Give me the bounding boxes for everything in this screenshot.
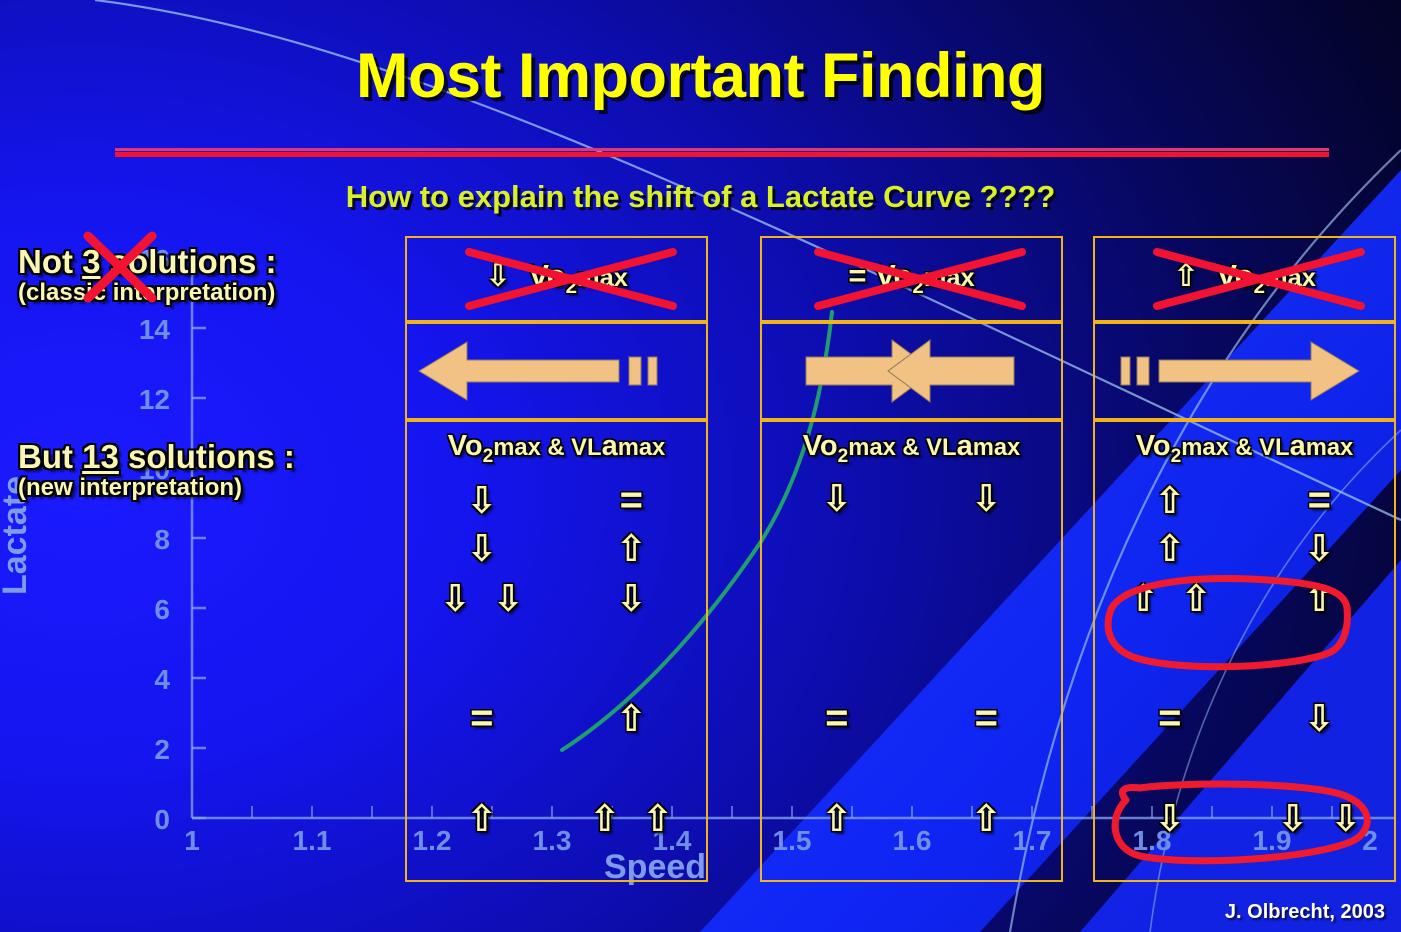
symbol: ⇧ xyxy=(1304,580,1335,617)
symbol: ⇩ xyxy=(1277,800,1308,837)
slide-canvas: Lactate Speed 16 14 12 10 8 6 4 2 0 1 1.… xyxy=(0,0,1401,932)
col1-row5-right: ⇧⇧ xyxy=(557,800,707,837)
col3-row-2: ⇧ ⇩ xyxy=(1095,530,1394,567)
author-credit: J. Olbrecht, 2003 xyxy=(1225,901,1385,924)
col3-row3-right: ⇧ xyxy=(1245,580,1395,617)
divider-line-bottom xyxy=(115,152,1329,157)
col1-row-5: ⇧ ⇧⇧ xyxy=(407,800,706,837)
y-tick-6: 6 xyxy=(110,594,170,626)
col3-row4-right: ⇩ xyxy=(1245,698,1395,738)
symbol: ⇩ xyxy=(971,480,1002,517)
col2-row4-left: = xyxy=(762,698,912,738)
symbol: = xyxy=(1158,698,1181,738)
col3-row-5: ⇩ ⇩⇩ xyxy=(1095,800,1394,837)
col2-row-4: = = xyxy=(762,698,1061,738)
caption-new-post: solutions : xyxy=(119,438,295,475)
col2-sub-vo: Vo xyxy=(803,430,838,462)
col1-row4-left: = xyxy=(407,698,557,738)
col3-sub-a: a xyxy=(1290,430,1306,462)
col2-sub-tail: max & VL xyxy=(848,434,956,461)
col1-row3-right: ⇩ xyxy=(557,580,707,617)
symbol: = xyxy=(825,698,848,738)
col1-row1-left: ⇩ xyxy=(407,480,557,520)
col3-row-1: ⇧ = xyxy=(1095,480,1394,520)
col1-row4-right: ⇧ xyxy=(557,698,707,738)
col2-subhead: Vo2max & VLamax xyxy=(762,430,1061,468)
col3-row1-right: = xyxy=(1245,480,1395,520)
col3-row-3: ⇧⇧ ⇧ xyxy=(1095,580,1394,617)
caption-classic-pre: Not xyxy=(18,243,82,280)
col2-sub-max: max xyxy=(973,434,1021,461)
col1-sub-a: a xyxy=(602,430,618,462)
symbol: ⇧ xyxy=(616,700,647,737)
col2-row-1: ⇩ ⇩ xyxy=(762,480,1061,517)
col1-row-2: ⇩ ⇧ xyxy=(407,530,706,567)
symbol: ⇩ xyxy=(1304,700,1335,737)
left-shift-arrow-icon xyxy=(407,324,706,418)
col3-matrix-box: Vo2max & VLamax ⇧ = ⇧ ⇩ ⇧⇧ ⇧ = ⇩ ⇩ ⇩⇩ xyxy=(1093,420,1396,882)
col1-matrix-box: Vo2max & VLamax ⇩ = ⇩ ⇧ ⇩⇩ ⇩ = ⇧ ⇧ ⇧⇧ xyxy=(405,420,708,882)
col1-row-4: = ⇧ xyxy=(407,698,706,738)
y-tick-14: 14 xyxy=(110,314,170,346)
symbol: ⇩ xyxy=(466,530,497,567)
col3-row2-left: ⇧ xyxy=(1095,530,1245,567)
col3-sub-2: 2 xyxy=(1171,446,1182,467)
right-shift-arrow-icon xyxy=(1095,324,1394,418)
caption-classic: Not 3 solutions : (classic interpretatio… xyxy=(18,245,277,305)
col3-row2-right: ⇩ xyxy=(1245,530,1395,567)
col2-sub-a: a xyxy=(957,430,973,462)
col1-row-3: ⇩⇩ ⇩ xyxy=(407,580,706,617)
x-tick-1.1: 1.1 xyxy=(282,825,342,857)
col2-sub-2: 2 xyxy=(838,446,849,467)
col3-row5-left: ⇩ xyxy=(1095,800,1245,837)
symbol: ⇩ xyxy=(493,580,524,617)
col3-row3-left: ⇧⇧ xyxy=(1095,580,1245,617)
col2-shift-box xyxy=(760,322,1063,420)
symbol: = xyxy=(975,698,998,738)
slide-title: Most Important Finding xyxy=(0,40,1401,112)
col2-row1-left: ⇩ xyxy=(762,480,912,517)
symbol: ⇩ xyxy=(440,580,471,617)
col3-subhead: Vo2max & VLamax xyxy=(1095,430,1394,468)
col1-row2-left: ⇩ xyxy=(407,530,557,567)
y-tick-2: 2 xyxy=(110,734,170,766)
col3-row-4: = ⇩ xyxy=(1095,698,1394,738)
caption-new: But 13 solutions : (new interpretation) xyxy=(18,440,295,500)
caption-new-pre: But xyxy=(18,438,82,475)
col1-sub-tail: max & VL xyxy=(493,434,601,461)
symbol: ⇧ xyxy=(1128,580,1159,617)
col2-row5-right: ⇧ xyxy=(912,800,1062,837)
symbol: ⇩ xyxy=(466,482,497,519)
col3-sub-max: max xyxy=(1306,434,1354,461)
col3-row4-left: = xyxy=(1095,698,1245,738)
symbol: = xyxy=(1308,480,1331,520)
title-divider xyxy=(115,148,1329,157)
x-tick-1: 1 xyxy=(162,825,222,857)
y-tick-0: 0 xyxy=(110,804,170,836)
col3-sub-vo: Vo xyxy=(1136,430,1171,462)
converging-arrows-icon xyxy=(762,324,1061,418)
slide-subtitle: How to explain the shift of a Lactate Cu… xyxy=(0,179,1401,215)
caption-classic-line1: Not 3 solutions : xyxy=(18,245,277,280)
symbol: ⇧ xyxy=(821,800,852,837)
col1-row5-left: ⇧ xyxy=(407,800,557,837)
col3-row1-left: ⇧ xyxy=(1095,480,1245,520)
col1-shift-box xyxy=(405,322,708,420)
symbol: ⇩ xyxy=(1154,800,1185,837)
col1-row2-right: ⇧ xyxy=(557,530,707,567)
symbol: ⇩ xyxy=(616,580,647,617)
col1-subhead: Vo2max & VLamax xyxy=(407,430,706,468)
caption-new-number: 13 xyxy=(82,438,119,475)
caption-new-line2: (new interpretation) xyxy=(18,475,295,500)
symbol: ⇧ xyxy=(1154,482,1185,519)
col3-row5-right: ⇩⇩ xyxy=(1245,800,1395,837)
symbol: ⇧ xyxy=(971,800,1002,837)
divider-line-top xyxy=(115,148,1329,151)
caption-new-line1: But 13 solutions : xyxy=(18,440,295,475)
col3-crossout-icon xyxy=(1149,244,1369,318)
symbol: = xyxy=(470,698,493,738)
col1-sub-vo: Vo xyxy=(448,430,483,462)
col2-crossout-icon xyxy=(810,244,1030,318)
symbol: ⇧ xyxy=(1154,530,1185,567)
col1-row1-right: = xyxy=(557,480,707,520)
col1-row3-left: ⇩⇩ xyxy=(407,580,557,617)
caption-classic-number: 3 xyxy=(82,243,100,280)
caption-classic-line2: (classic interpretation) xyxy=(18,280,277,305)
column-equal-vo2max: = Vo2max Vo2max & VLamax ⇩ ⇩ = = xyxy=(760,236,1063,882)
symbol: ⇧ xyxy=(616,530,647,567)
y-tick-4: 4 xyxy=(110,664,170,696)
symbol: ⇧ xyxy=(642,800,673,837)
column-decrease-vo2max: ⇩ Vo2max Vo2max & VLamax ⇩ = xyxy=(405,236,708,882)
symbol: = xyxy=(620,480,643,520)
col3-sub-tail: max & VL xyxy=(1181,434,1289,461)
symbol: ⇧ xyxy=(466,800,497,837)
col2-row-5: ⇧ ⇧ xyxy=(762,800,1061,837)
col2-row5-left: ⇧ xyxy=(762,800,912,837)
col1-crossout-icon xyxy=(461,244,681,318)
symbol: ⇧ xyxy=(1181,580,1212,617)
col3-shift-box xyxy=(1093,322,1396,420)
symbol: ⇧ xyxy=(589,800,620,837)
col1-sub-max: max xyxy=(618,434,666,461)
column-increase-vo2max: ⇧ Vo2max Vo2max & VLamax ⇧ = xyxy=(1093,236,1396,882)
symbol: ⇩ xyxy=(821,480,852,517)
symbol: ⇩ xyxy=(1330,800,1361,837)
caption-classic-post: solutions : xyxy=(101,243,277,280)
col1-sub-2: 2 xyxy=(483,446,494,467)
y-tick-8: 8 xyxy=(110,524,170,556)
y-tick-12: 12 xyxy=(110,384,170,416)
col2-row4-right: = xyxy=(912,698,1062,738)
col2-row1-right: ⇩ xyxy=(912,480,1062,517)
col2-matrix-box: Vo2max & VLamax ⇩ ⇩ = = ⇧ ⇧ xyxy=(760,420,1063,882)
col1-row-1: ⇩ = xyxy=(407,480,706,520)
symbol: ⇩ xyxy=(1304,530,1335,567)
